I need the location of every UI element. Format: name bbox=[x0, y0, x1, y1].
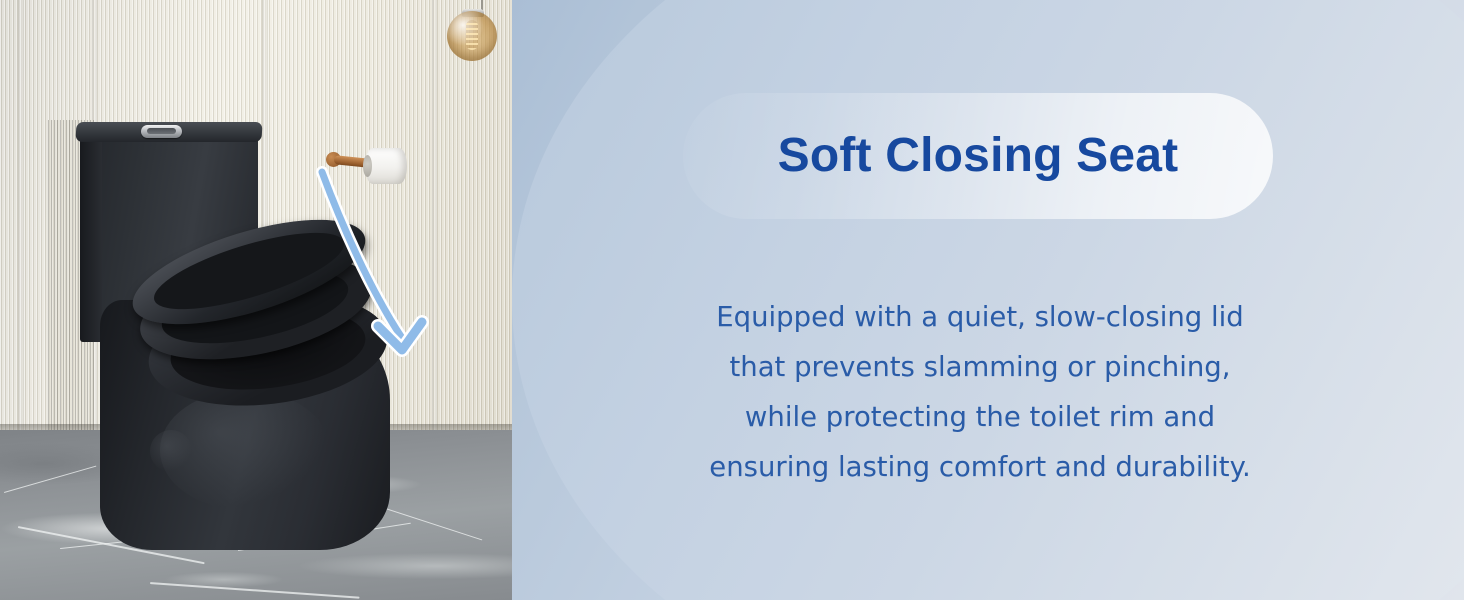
marble-vein bbox=[4, 466, 97, 493]
product-feature-banner: Soft Closing Seat Equipped with a quiet,… bbox=[0, 0, 1464, 600]
page-title: Soft Closing Seat bbox=[778, 132, 1179, 180]
feature-description: Equipped with a quiet, slow-closing lid … bbox=[660, 292, 1300, 492]
product-photo bbox=[0, 0, 560, 600]
soft-close-motion-arrow bbox=[290, 150, 440, 380]
toilet-tank-side bbox=[80, 138, 102, 342]
description-line: Equipped with a quiet, slow-closing lid bbox=[660, 292, 1300, 342]
description-line: while protecting the toilet rim and bbox=[660, 392, 1300, 442]
flush-button-inner bbox=[147, 128, 176, 134]
marble-vein bbox=[150, 582, 360, 599]
toilet-bowl-emblem bbox=[150, 430, 192, 472]
wall-panel-seam bbox=[18, 0, 24, 470]
pendant-light-filament bbox=[466, 20, 478, 50]
title-pill: Soft Closing Seat bbox=[683, 93, 1273, 219]
description-line: ensuring lasting comfort and durability. bbox=[660, 442, 1300, 492]
description-line: that prevents slamming or pinching, bbox=[660, 342, 1300, 392]
